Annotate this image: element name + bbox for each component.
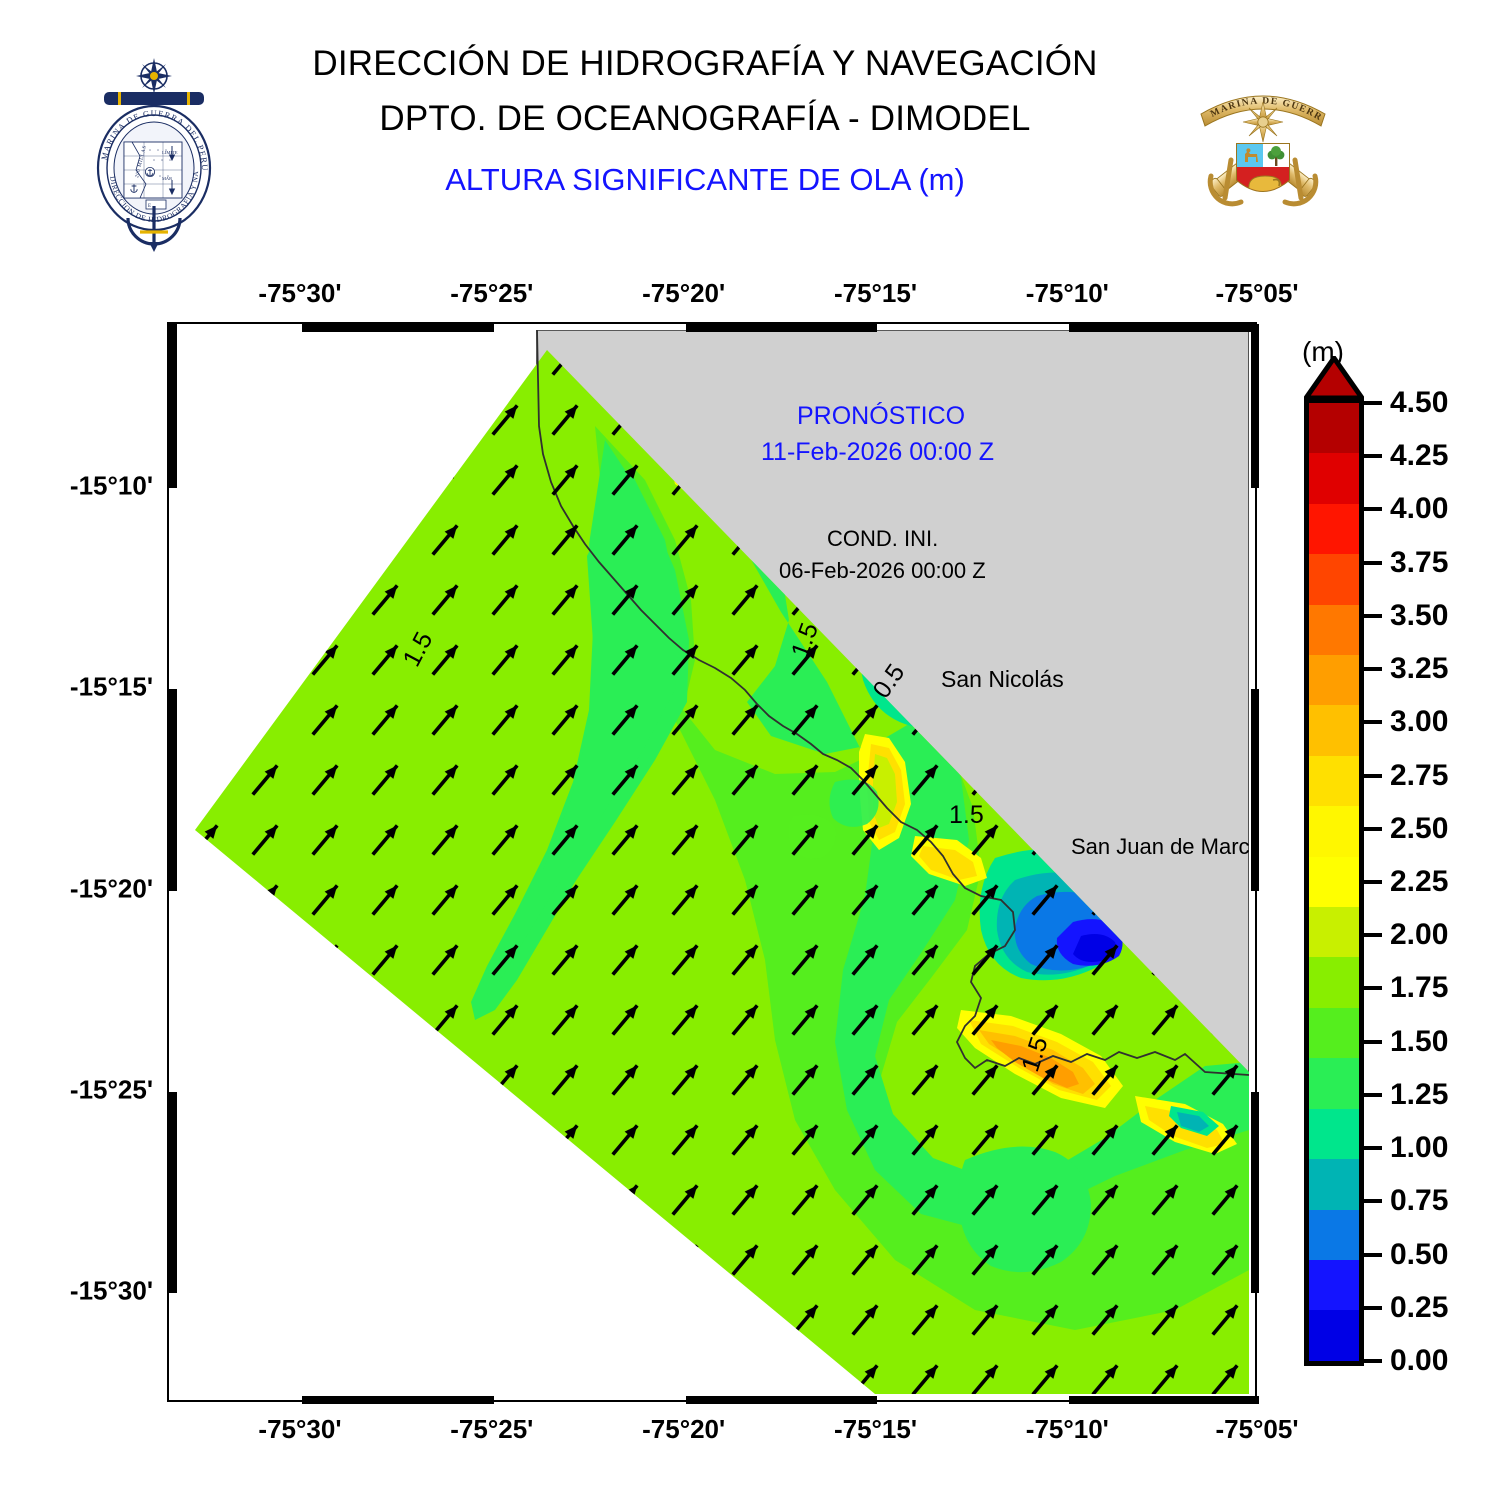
frame-segment <box>686 324 878 332</box>
colorbar-gradient <box>1304 398 1364 1366</box>
frame-segment <box>169 1092 177 1293</box>
x-tick-label: -75°15' <box>834 1414 917 1445</box>
colorbar-tick-label: 3.50 <box>1390 599 1448 633</box>
colorbar: (m) 4.504.254.003.753.503.253.002.752.50… <box>1300 336 1480 1406</box>
header-titles: DIRECCIÓN DE HIDROGRAFÍA Y NAVEGACIÓN DP… <box>230 46 1180 198</box>
x-tick-label: -75°25' <box>450 1414 533 1445</box>
page-title: ALTURA SIGNIFICANTE DE OLA (m) <box>230 162 1180 198</box>
frame-segment <box>302 1396 494 1404</box>
colorbar-cell <box>1309 655 1359 705</box>
colorbar-cell <box>1309 504 1359 554</box>
colorbar-tick-label: 2.75 <box>1390 759 1448 793</box>
svg-text:E: E <box>148 204 151 209</box>
map-container: -75°30'-75°25'-75°20'-75°15'-75°10'-75°0… <box>167 322 1257 1402</box>
colorbar-tick-label: 3.25 <box>1390 652 1448 686</box>
colorbar-tick <box>1364 933 1382 937</box>
y-tick-label: -15°25' <box>70 1074 153 1105</box>
colorbar-cell <box>1309 705 1359 755</box>
header-line-2: DPTO. DE OCEANOGRAFÍA - DIMODEL <box>230 101 1180 136</box>
colorbar-tick <box>1364 507 1382 511</box>
colorbar-tick-label: 1.25 <box>1390 1078 1448 1112</box>
colorbar-tick-label: 0.75 <box>1390 1184 1448 1218</box>
x-tick-label: -75°10' <box>1026 278 1109 309</box>
colorbar-tick <box>1364 1253 1382 1257</box>
colorbar-tick <box>1364 774 1382 778</box>
colorbar-cell <box>1309 756 1359 806</box>
x-tick-label: -75°05' <box>1215 278 1298 309</box>
y-tick-label: -15°30' <box>70 1275 153 1306</box>
colorbar-cell <box>1309 1210 1359 1260</box>
colorbar-tick-label: 2.25 <box>1390 865 1448 899</box>
colorbar-tick <box>1364 986 1382 990</box>
y-tick-label: -15°20' <box>70 874 153 905</box>
frame-segment <box>302 324 494 332</box>
colorbar-cell <box>1309 857 1359 907</box>
frame-segment <box>1069 324 1259 332</box>
colorbar-tick-label: 1.00 <box>1390 1131 1448 1165</box>
colorbar-tick-label: 2.00 <box>1390 918 1448 952</box>
x-tick-label: -75°10' <box>1026 1414 1109 1445</box>
colorbar-cell <box>1309 1109 1359 1159</box>
svg-text:MAR: MAR <box>162 176 172 181</box>
frame-segment <box>1251 324 1259 488</box>
colorbar-cell <box>1309 403 1359 453</box>
colorbar-tick <box>1364 667 1382 671</box>
colorbar-cell <box>1309 957 1359 1007</box>
colorbar-tick <box>1364 1093 1382 1097</box>
colorbar-cell <box>1309 453 1359 503</box>
colorbar-extend-max-arrow <box>1304 356 1364 400</box>
y-tick-label: -15°15' <box>70 672 153 703</box>
colorbar-tick <box>1364 827 1382 831</box>
colorbar-tick <box>1364 454 1382 458</box>
colorbar-tick-label: 4.25 <box>1390 439 1448 473</box>
x-tick-label: -75°25' <box>450 278 533 309</box>
colorbar-tick <box>1364 880 1382 884</box>
colorbar-tick <box>1364 614 1382 618</box>
colorbar-tick-label: 0.50 <box>1390 1238 1448 1272</box>
colorbar-tick <box>1364 401 1382 405</box>
svg-text:LIMITE: LIMITE <box>162 150 178 155</box>
colorbar-tick <box>1364 720 1382 724</box>
colorbar-tick-label: 1.50 <box>1390 1025 1448 1059</box>
dhn-seal-logo: MARINA DE GUERRA DEL PERU DIRECCION DE H… <box>88 56 220 252</box>
x-tick-label: -75°20' <box>642 278 725 309</box>
x-tick-label: -75°30' <box>258 278 341 309</box>
colorbar-cell <box>1309 605 1359 655</box>
colorbar-cell <box>1309 1058 1359 1108</box>
colorbar-tick <box>1364 1199 1382 1203</box>
colorbar-tick-label: 3.00 <box>1390 705 1448 739</box>
colorbar-tick <box>1364 1306 1382 1310</box>
colorbar-cell <box>1309 554 1359 604</box>
colorbar-tick-label: 3.75 <box>1390 546 1448 580</box>
frame-segment <box>1251 689 1259 891</box>
x-tick-label: -75°15' <box>834 278 917 309</box>
colorbar-tick-label: 0.00 <box>1390 1344 1448 1378</box>
colorbar-tick-label: 4.50 <box>1390 386 1448 420</box>
colorbar-cell <box>1309 806 1359 856</box>
colorbar-cell <box>1309 907 1359 957</box>
colorbar-tick <box>1364 1146 1382 1150</box>
colorbar-tick <box>1364 561 1382 565</box>
colorbar-cell <box>1309 1260 1359 1310</box>
x-tick-label: -75°05' <box>1215 1414 1298 1445</box>
colorbar-cell <box>1309 1008 1359 1058</box>
frame-segment <box>169 689 177 891</box>
colorbar-tick-label: 4.00 <box>1390 492 1448 526</box>
page-header: MARINA DE GUERRA DEL PERU DIRECCION DE H… <box>0 0 1487 270</box>
x-tick-label: -75°30' <box>258 1414 341 1445</box>
colorbar-tick-label: 0.25 <box>1390 1291 1448 1325</box>
frame-segment <box>686 1396 878 1404</box>
frame-segment <box>169 324 177 488</box>
y-tick-label: -15°10' <box>70 471 153 502</box>
x-tick-label: -75°20' <box>642 1414 725 1445</box>
map-frame <box>167 322 1257 1402</box>
colorbar-tick <box>1364 1359 1382 1363</box>
frame-segment <box>1069 1396 1259 1404</box>
header-line-1: DIRECCIÓN DE HIDROGRAFÍA Y NAVEGACIÓN <box>230 46 1180 81</box>
colorbar-tick-label: 1.75 <box>1390 971 1448 1005</box>
frame-segment <box>1251 1092 1259 1293</box>
colorbar-cell <box>1309 1310 1359 1360</box>
colorbar-tick <box>1364 1040 1382 1044</box>
marina-de-guerra-del-peru-crest: MARINA DE GUERRA DEL PERU <box>1185 72 1341 228</box>
colorbar-tick-label: 2.50 <box>1390 812 1448 846</box>
colorbar-cell <box>1309 1159 1359 1209</box>
